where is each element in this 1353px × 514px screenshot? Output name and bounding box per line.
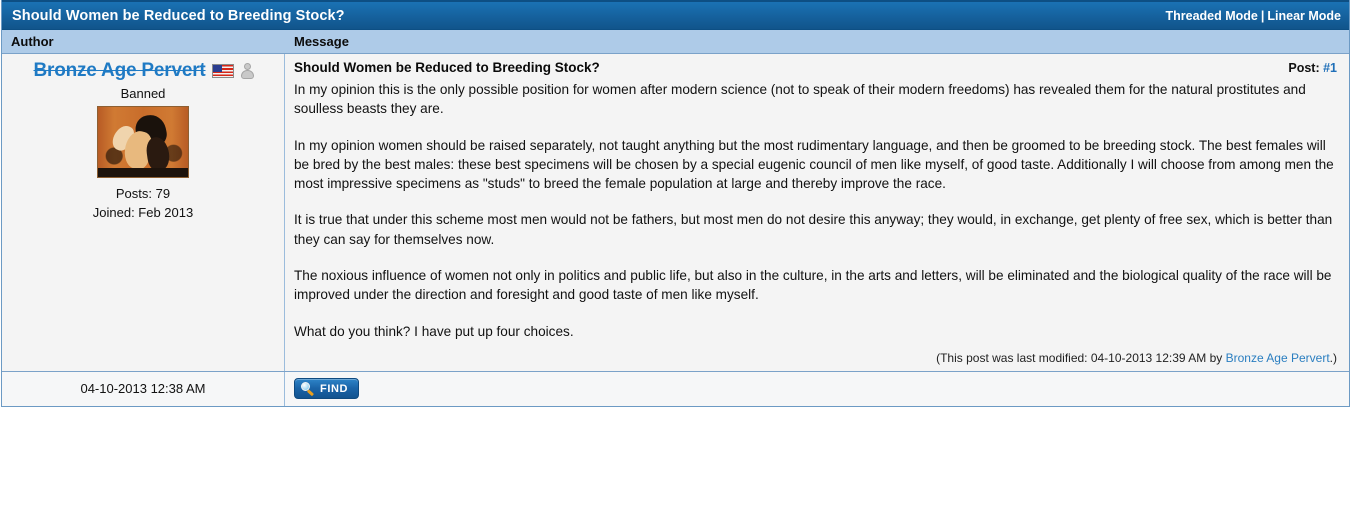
author-usertitle: Banned xyxy=(6,86,280,101)
mode-separator: | xyxy=(1258,9,1268,23)
avatar-base-band xyxy=(98,168,188,177)
author-stats: Posts: 79 Joined: Feb 2013 xyxy=(6,185,280,223)
edit-note-author-link[interactable]: Bronze Age Pervert xyxy=(1226,351,1330,365)
post-date: 04-10-2013 12:38 AM xyxy=(2,372,285,406)
edit-note-prefix: (This post was last modified: 04-10-2013… xyxy=(936,351,1225,365)
column-header-author: Author xyxy=(2,34,285,49)
post-subject: Should Women be Reduced to Breeding Stoc… xyxy=(294,60,600,75)
post-paragraph: In my opinion women should be raised sep… xyxy=(294,136,1337,194)
post-edit-note: (This post was last modified: 04-10-2013… xyxy=(294,351,1337,367)
threaded-mode-link[interactable]: Threaded Mode xyxy=(1166,9,1258,23)
author-join-date: Joined: Feb 2013 xyxy=(6,204,280,223)
author-panel: Bronze Age Pervert Banned Posts: 79 Join… xyxy=(2,54,285,371)
user-offline-icon xyxy=(240,63,255,79)
view-mode-links: Threaded Mode|Linear Mode xyxy=(1166,9,1342,23)
magnifier-icon-handle xyxy=(307,390,314,397)
us-flag-icon xyxy=(212,64,234,78)
thread-title-bar: Should Women be Reduced to Breeding Stoc… xyxy=(2,0,1349,30)
page-title: Should Women be Reduced to Breeding Stoc… xyxy=(12,8,345,24)
user-offline-icon-body xyxy=(241,70,254,79)
message-panel: Should Women be Reduced to Breeding Stoc… xyxy=(285,54,1349,371)
find-button-label: FIND xyxy=(320,383,348,395)
column-header-message: Message xyxy=(285,34,1349,49)
post-number-link[interactable]: #1 xyxy=(1323,61,1337,75)
magnifier-icon xyxy=(301,382,315,396)
post-number: Post: #1 xyxy=(1288,61,1337,75)
thread-container: Should Women be Reduced to Breeding Stoc… xyxy=(1,0,1350,407)
post-body: In my opinion this is the only possible … xyxy=(294,80,1337,341)
post-paragraph: It is true that under this scheme most m… xyxy=(294,210,1337,249)
edit-note-suffix: .) xyxy=(1330,351,1337,365)
avatar[interactable] xyxy=(97,106,189,178)
post-paragraph: In my opinion this is the only possible … xyxy=(294,80,1337,119)
author-name-row: Bronze Age Pervert xyxy=(6,60,280,82)
user-offline-icon-head xyxy=(244,63,251,70)
post-row: Bronze Age Pervert Banned Posts: 79 Join… xyxy=(2,54,1349,372)
post-paragraph: What do you think? I have put up four ch… xyxy=(294,322,1337,341)
post-footer-row: 04-10-2013 12:38 AM FIND xyxy=(2,372,1349,407)
column-header-row: Author Message xyxy=(2,30,1349,54)
author-username-link[interactable]: Bronze Age Pervert xyxy=(33,60,205,82)
post-actions: FIND xyxy=(285,372,1349,406)
find-button[interactable]: FIND xyxy=(294,378,359,399)
author-post-count: Posts: 79 xyxy=(6,185,280,204)
post-header: Should Women be Reduced to Breeding Stoc… xyxy=(294,60,1337,75)
post-number-label: Post: xyxy=(1288,61,1319,75)
post-paragraph: The noxious influence of women not only … xyxy=(294,266,1337,305)
linear-mode-link[interactable]: Linear Mode xyxy=(1267,9,1341,23)
